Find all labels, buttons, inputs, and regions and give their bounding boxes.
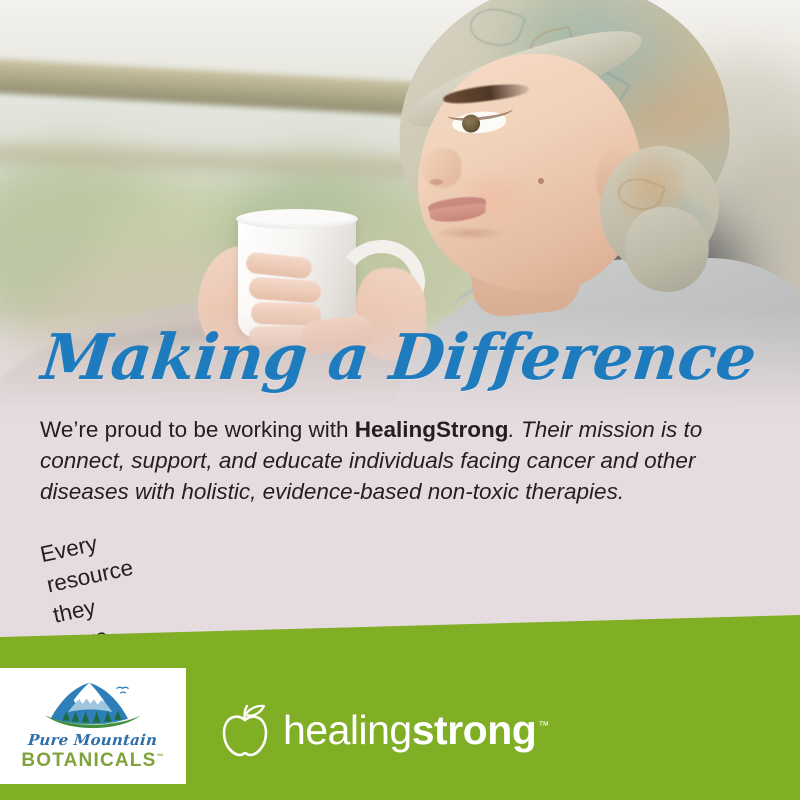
pure-mountain-botanicals-logo[interactable]: Pure Mountain BOTANICALS™ <box>0 668 186 784</box>
trademark-symbol: ™ <box>156 754 164 761</box>
healingstrong-logo[interactable]: healingstrong™ <box>219 702 549 758</box>
healingstrong-wordmark: healingstrong™ <box>283 710 549 751</box>
nostril <box>430 179 443 185</box>
paragraph-1-lead: We’re proud to be working with <box>40 417 355 442</box>
paragraph-1: We’re proud to be working with HealingSt… <box>40 414 756 507</box>
trademark-symbol: ™ <box>538 720 549 732</box>
pure-mountain-script: Pure Mountain <box>28 731 159 749</box>
mole <box>538 178 544 184</box>
mug-rim <box>236 209 358 229</box>
strong-text: strong <box>412 707 537 753</box>
healing-text: healing <box>283 707 412 753</box>
mountain-icon <box>37 680 149 728</box>
apple-icon <box>219 702 271 758</box>
body-copy: We’re proud to be working with HealingSt… <box>40 414 756 565</box>
chin-shadow <box>436 226 506 240</box>
botanicals-text: BOTANICALS <box>21 750 156 771</box>
paragraph-2: Every resource they have—monetary, time,… <box>37 531 84 569</box>
botanicals-wordmark: BOTANICALS™ <box>21 750 164 772</box>
brand-name: HealingStrong <box>355 417 509 442</box>
page-title: Making a Difference <box>39 326 759 389</box>
social-graphic-card: Making a Difference We’re proud to be wo… <box>0 0 800 800</box>
